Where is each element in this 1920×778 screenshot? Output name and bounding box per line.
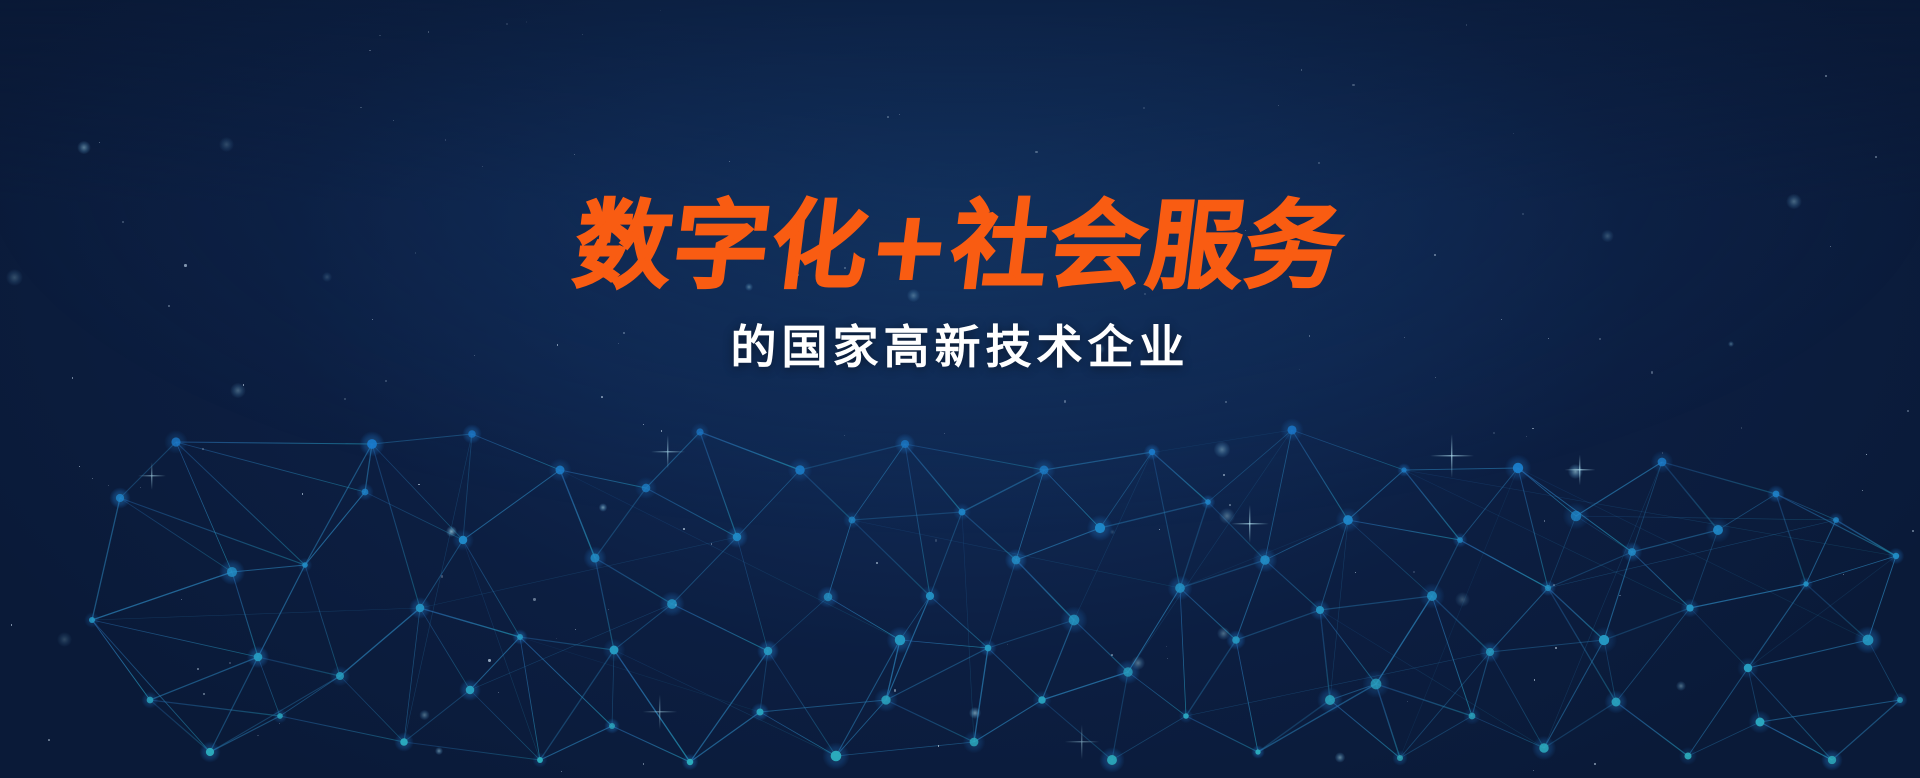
banner-hero: 数字化+社会服务 的国家高新技术企业 [0, 0, 1920, 778]
page-title: 数字化+社会服务 [0, 196, 1920, 297]
network-constellation-mesh [0, 0, 1920, 778]
page-subtitle: 的国家高新技术企业 [0, 311, 1920, 377]
mesh-edges [92, 430, 1900, 762]
hero-text-block: 数字化+社会服务 的国家高新技术企业 [0, 196, 1920, 377]
mesh-nodes [84, 418, 1908, 773]
